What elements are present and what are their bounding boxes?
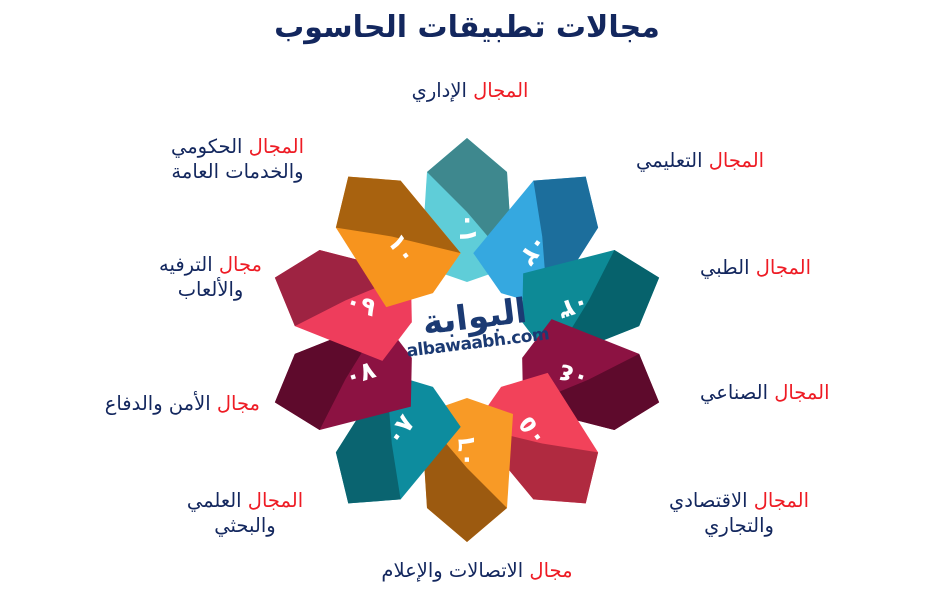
label-petal-1-red: المجال [473,79,528,102]
label-petal-2-blue: التعليمي [636,149,703,172]
label-petal-5-blue: الاقتصادي [669,489,748,512]
label-petal-9-blue: الترفيه [159,253,213,276]
label-petal-2-red: المجال [709,149,764,172]
label-petal-7-line1: المجال العلمي [145,488,345,513]
label-petal-8[interactable]: مجال الأمن والدفاع [10,391,260,416]
label-petal-9-line2: والألعاب [118,277,303,302]
label-petal-8-blue: الأمن والدفاع [105,392,211,415]
label-petal-4-blue: الصناعي [700,381,768,404]
page-title: مجالات تطبيقات الحاسوب [0,10,934,45]
label-petal-10-line1: المجال الحكومي [130,134,345,159]
petal-6-number: ٠٦ [451,437,480,468]
label-petal-5-line1: المجال الاقتصادي [624,488,854,513]
label-petal-1[interactable]: المجال الإداري [330,78,610,103]
label-petal-7-red: المجال [248,489,303,512]
label-petal-5-red: المجال [754,489,809,512]
label-petal-4[interactable]: المجال الصناعي [700,380,930,405]
label-petal-3-blue: الطبي [700,256,750,279]
label-petal-9-line1: مجال الترفيه [118,252,303,277]
label-petal-7-line2: والبحثي [145,513,345,538]
label-petal-7[interactable]: المجال العلمي والبحثي [145,488,345,538]
label-petal-2[interactable]: المجال التعليمي [636,148,916,173]
petal-1-number: ٠١ [454,213,483,244]
infographic-canvas: مجالات تطبيقات الحاسوب ٠١٠٢٠٣٠٤٠٥٠٦٠٧٠٨٠… [0,0,934,598]
label-petal-6[interactable]: مجال الاتصالات والإعلام [327,558,627,583]
label-petal-10-line2: والخدمات العامة [130,159,345,184]
label-petal-7-blue: العلمي [187,489,242,512]
label-petal-5[interactable]: المجال الاقتصادي والتجاري [624,488,854,538]
label-petal-9-red: مجال [219,253,262,276]
label-petal-9[interactable]: مجال الترفيه والألعاب [118,252,303,302]
label-petal-10[interactable]: المجال الحكومي والخدمات العامة [130,134,345,184]
label-petal-8-red: مجال [217,392,260,415]
label-petal-5-line2: والتجاري [624,513,854,538]
label-petal-10-blue: الحكومي [171,135,243,158]
label-petal-10-red: المجال [249,135,304,158]
label-petal-6-red: مجال [529,559,572,582]
label-petal-3-red: المجال [756,256,811,279]
label-petal-6-blue: الاتصالات والإعلام [381,559,523,582]
label-petal-3[interactable]: المجال الطبي [700,255,930,280]
label-petal-4-red: المجال [774,381,829,404]
label-petal-1-blue: الإداري [412,79,467,102]
